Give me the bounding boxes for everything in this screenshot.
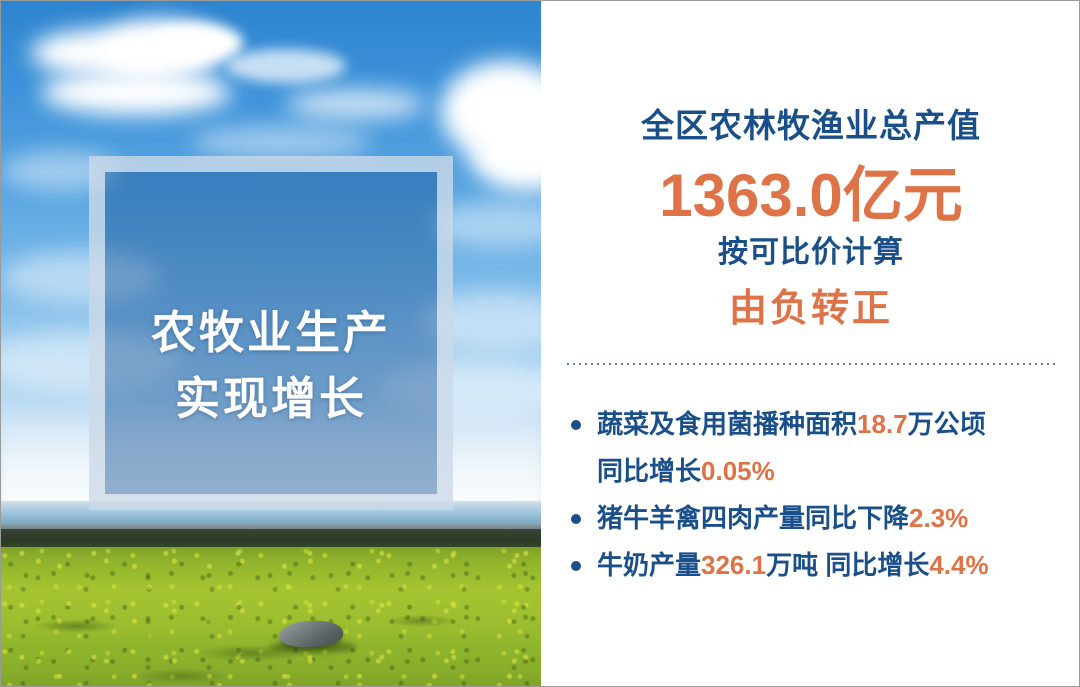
bullet-dot-icon [571,514,581,524]
content-panel: 全区农林牧渔业总产值 1363.0亿元 按可比价计算 由负转正 蔬菜及食用菌播种… [541,1,1080,687]
list-item: 牛奶产量326.1万吨 同比增长4.4% [563,542,1073,589]
overlay-title-line-2: 实现增长 [105,366,437,432]
bullet-dot-icon [571,561,581,571]
cloud-shape [286,89,426,119]
bullet-3-text-mid: 万吨 同比增长 [766,550,929,580]
field-shadow-patches [1,591,541,687]
list-item: 蔬菜及食用菌播种面积18.7万公顷 同比增长0.05% [563,401,1073,495]
cloud-shape [41,71,231,115]
overlay-title-line-1: 农牧业生产 [105,300,437,366]
bullet-3-highlight-1: 326.1 [701,550,766,580]
bullet-list: 蔬菜及食用菌播种面积18.7万公顷 同比增长0.05% 猪牛羊禽四肉产量同比下降… [563,401,1073,589]
bullet-1-highlight: 18.7 [857,409,908,439]
cloud-shape [151,23,243,63]
stat-trend: 由负转正 [541,277,1080,332]
treeline-band [1,529,541,549]
cloud-shape [226,49,346,83]
bullet-2-highlight: 2.3% [909,503,968,533]
stat-figure-value: 1363.0亿元 [541,147,1080,234]
bullet-2-text-pre: 猪牛羊禽四肉产量同比下降 [597,503,909,533]
infographic-poster: 农牧业生产 实现增长 全区农林牧渔业总产值 1363.0亿元 按可比价计算 由负… [0,0,1080,687]
bullet-1-line2-highlight: 0.05% [701,456,775,486]
bullet-dot-icon [571,420,581,430]
overlay-title: 农牧业生产 实现增长 [105,300,437,432]
overlay-title-frame: 农牧业生产 实现增长 [89,156,453,510]
photo-panel: 农牧业生产 实现增长 [1,1,541,687]
bullet-1-line-2: 同比增长0.05% [597,448,1073,495]
bullet-1-line2-pre: 同比增长 [597,456,701,486]
bullet-1-text-pre: 蔬菜及食用菌播种面积 [597,409,857,439]
stat-heading: 全区农林牧渔业总产值 [541,99,1080,147]
stat-note: 按可比价计算 [541,227,1080,271]
bullet-3-highlight-2: 4.4% [929,550,988,580]
list-item: 猪牛羊禽四肉产量同比下降2.3% [563,495,1073,542]
bullet-1-text-post: 万公顷 [908,409,986,439]
cloud-shape [191,125,371,159]
bullet-3-text-pre: 牛奶产量 [597,550,701,580]
dotted-divider [567,363,1057,365]
